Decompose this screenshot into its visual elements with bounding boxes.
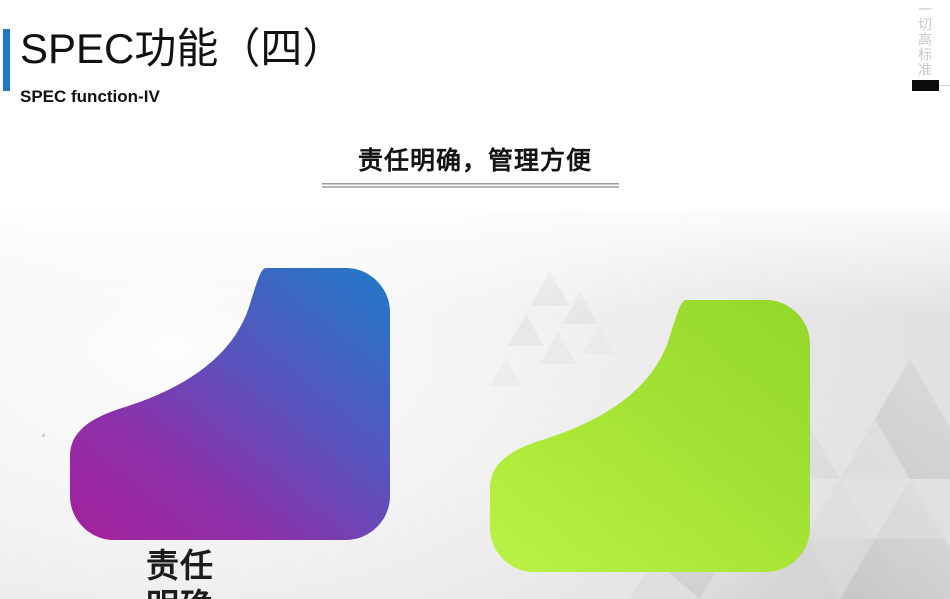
card-label-responsibility: 责任 明确 [146,546,214,599]
page-subtitle: SPEC function-IV [20,86,160,108]
marker-block [912,80,939,91]
card-management[interactable]: 管理 方便 SPEC清晰的格式可使业主或总包对工作一目了然，便于控制工程质量和进… [490,300,810,572]
decorative-dot [42,434,45,437]
title-accent-bar [3,29,10,91]
headline-underline [322,183,619,188]
page-title: SPEC功能（四） [20,23,344,75]
card-shape-left [70,268,390,540]
slide-canvas: SPEC功能（四） SPEC function-IV 一切高标准 责任明确，管理… [0,0,950,599]
vertical-slogan: 一切高标准 [914,2,932,77]
card-shape-right [490,300,810,572]
section-headline: 责任明确，管理方便 [0,141,950,177]
card-responsibility[interactable]: 责任 明确 SPEC将工作划分为许多有联系但相对独立的小子项，明确工作范围及职责… [70,268,390,540]
